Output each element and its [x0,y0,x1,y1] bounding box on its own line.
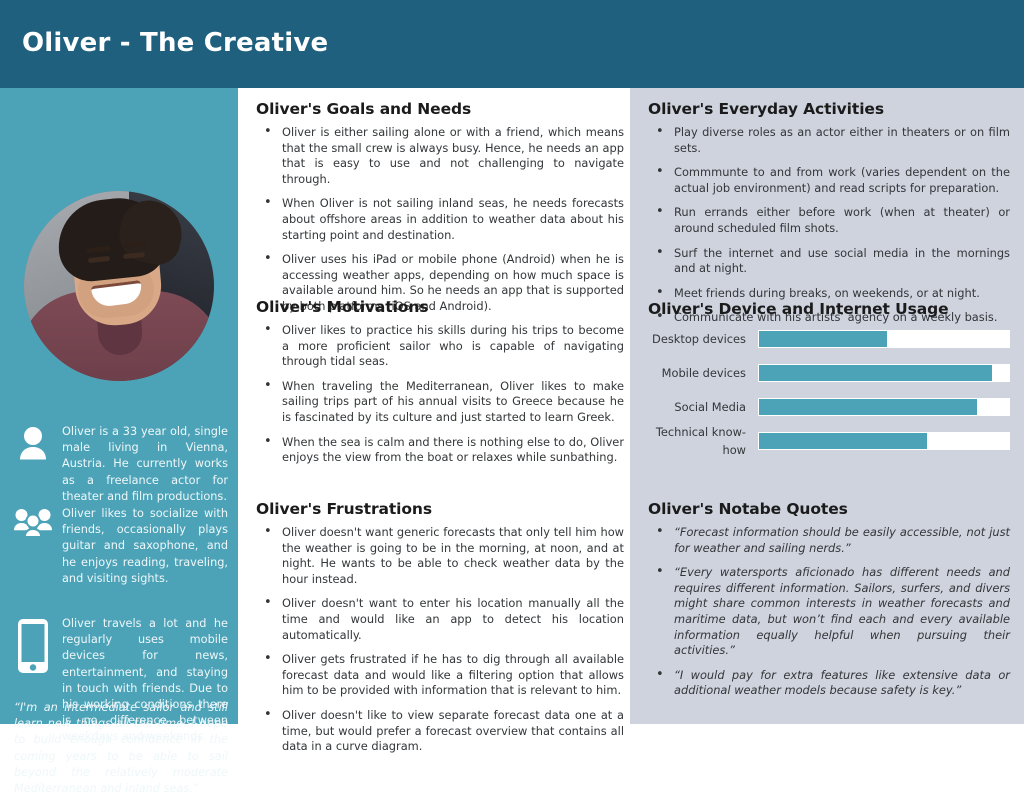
usage-bar-row: Social Media [648,398,1010,416]
usage-bar-track [758,398,1010,416]
usage-bar-fill [759,399,977,415]
list-item: Oliver doesn't want to enter his locatio… [256,596,624,643]
list-item: Play diverse roles as an actor either in… [648,125,1010,156]
usage-bar-chart: Desktop devicesMobile devicesSocial Medi… [648,330,1010,450]
list-item: “Every watersports aficionado has differ… [648,565,1010,659]
list-item: Oliver likes to practice his skills duri… [256,323,624,370]
profile-info-text: Oliver likes to socialize with friends, … [62,506,228,587]
usage-bar-track [758,330,1010,348]
profile-info-text: Oliver is a 33 year old, single male liv… [62,424,228,505]
list-item: Surf the internet and use social media i… [648,246,1010,277]
usage-bar-label: Technical know-how [648,423,758,459]
usage-bar-fill [759,365,992,381]
profile-info-row-demographics: Oliver is a 33 year old, single male liv… [14,424,228,505]
usage-bar-label: Desktop devices [648,330,758,348]
list-item: When Oliver is not sailing inland seas, … [256,196,624,243]
usage-bar-track [758,432,1010,450]
usage-bar-row: Desktop devices [648,330,1010,348]
section-device-and-internet-usage: Oliver's Device and Internet Usage Deskt… [648,300,1010,466]
section-title: Oliver's Device and Internet Usage [648,300,1010,318]
page-header: Oliver - The Creative [0,0,1024,88]
list-item: Oliver doesn't like to view separate for… [256,708,624,755]
profile-sidebar: Oliver is a 33 year old, single male liv… [0,88,238,724]
avatar [24,191,214,381]
usage-bar-row: Mobile devices [648,364,1010,382]
mobile-phone-icon [14,616,52,674]
frustrations-list: Oliver doesn't want generic forecasts th… [256,525,624,755]
usage-bar-label: Social Media [648,398,758,416]
section-title: Oliver's Everyday Activities [648,100,1010,118]
person-icon [14,424,52,462]
list-item: Meet friends during breaks, on weekends,… [648,286,1010,302]
persona-poster: Oliver - The Creative [0,0,1024,724]
section-motivations: Oliver's Motivations Oliver likes to pra… [256,298,624,475]
usage-bar-label: Mobile devices [648,364,758,382]
usage-bar-fill [759,331,887,347]
list-item: Oliver is either sailing alone or with a… [256,125,624,187]
section-title: Oliver's Frustrations [256,500,624,518]
usage-bar-fill [759,433,927,449]
section-title: Oliver's Motivations [256,298,624,316]
list-item: Commmunte to and from work (varies depen… [648,165,1010,196]
avatar-photo [24,191,214,381]
group-icon [14,506,52,538]
section-goals-and-needs: Oliver's Goals and Needs Oliver is eithe… [256,100,624,324]
profile-info-row-social: Oliver likes to socialize with friends, … [14,506,228,587]
section-title: Oliver's Goals and Needs [256,100,624,118]
sidebar-quote: “I'm an intermediate sailor and still le… [14,700,228,797]
list-item: When the sea is calm and there is nothin… [256,435,624,466]
list-item: Run errands either before work (when at … [648,205,1010,236]
list-item: Oliver gets frustrated if he has to dig … [256,652,624,699]
usage-bar-track [758,364,1010,382]
quotes-list: “Forecast information should be easily a… [648,525,1010,699]
section-title: Oliver's Notabe Quotes [648,500,1010,518]
usage-bar-row: Technical know-how [648,432,1010,450]
list-item: Oliver doesn't want generic forecasts th… [256,525,624,587]
section-frustrations: Oliver's Frustrations Oliver doesn't wan… [256,500,624,764]
list-item: “I would pay for extra features like ext… [648,668,1010,699]
list-item: When traveling the Mediterranean, Oliver… [256,379,624,426]
motivations-list: Oliver likes to practice his skills duri… [256,323,624,466]
page-title: Oliver - The Creative [22,28,328,58]
activities-list: Play diverse roles as an actor either in… [648,125,1010,326]
goals-list: Oliver is either sailing alone or with a… [256,125,624,315]
list-item: “Forecast information should be easily a… [648,525,1010,556]
section-notable-quotes: Oliver's Notabe Quotes “Forecast informa… [648,500,1010,708]
